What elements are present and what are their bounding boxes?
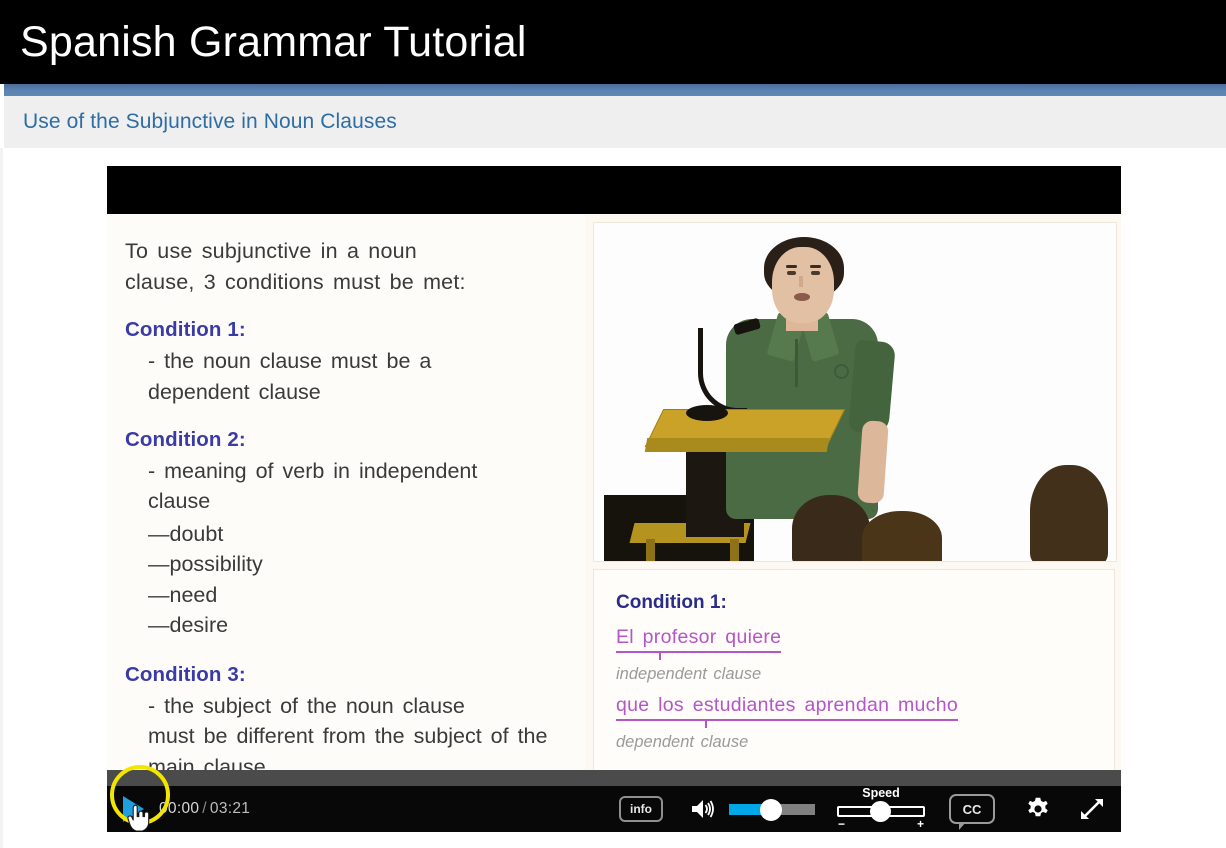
slide-lead-line-2: clause, 3 conditions must be met: [125,267,565,298]
lecturer-nose-shape [799,276,803,287]
independent-clause-label: independent clause [616,665,1114,684]
speed-control: Speed − + [835,786,927,832]
volume-slider[interactable] [729,802,815,816]
list-item: —doubt [148,519,565,550]
example-heading: Condition 1: [616,592,1114,614]
condition-2-line-2: clause [148,489,210,513]
lecturer-photo [593,222,1117,562]
condition-3-heading: Condition 3: [125,663,565,687]
speed-increase-label[interactable]: + [917,817,924,831]
play-button[interactable] [107,786,153,832]
bench-leg-shape [646,539,655,561]
condition-1-heading: Condition 1: [125,318,565,342]
microphone-base-shape [686,405,728,421]
podium-edge-shape [645,438,829,452]
lecturer-brow-shape [810,265,821,268]
lecturer-eye-shape [787,271,796,275]
lecturer-mouth-shape [794,293,810,301]
speed-decrease-label[interactable]: − [838,817,845,831]
gear-icon [1025,796,1051,822]
slide-content: To use subjunctive in a noun clause, 3 c… [107,214,1121,770]
condition-2-line-1: - meaning of verb in independent [148,456,565,487]
video-player[interactable]: To use subjunctive in a noun clause, 3 c… [107,166,1121,832]
dependent-clause-label: dependent clause [616,733,1114,752]
slide-right-column: Condition 1: El profesor quiere independ… [585,214,1121,770]
current-time: 00:00 [159,800,199,817]
speed-slider[interactable] [837,804,925,818]
student-head-shape [862,511,942,562]
list-item: —possibility [148,549,565,580]
slide-lead-line-1: To use subjunctive in a noun [125,236,565,267]
speed-label: Speed [835,786,927,800]
fullscreen-button[interactable] [1075,792,1109,826]
expand-arrows-icon [1079,796,1105,822]
shirt-logo-icon [834,364,849,379]
condition-3-body: - the subject of the noun clause must be… [125,691,565,770]
accent-divider [4,84,1226,96]
condition-1-line-2: dependent clause [148,380,321,404]
play-icon [123,796,144,822]
settings-button[interactable] [1021,792,1055,826]
info-button[interactable]: info [619,796,663,822]
lecturer-placket-shape [795,339,798,387]
app-header: Spanish Grammar Tutorial [0,0,1226,84]
player-control-bar: 00:00/03:21 info Speed [107,786,1121,832]
student-head-shape [1030,465,1108,562]
video-stage[interactable]: To use subjunctive in a noun clause, 3 c… [107,166,1121,770]
condition-2-item-list: —doubt —possibility —need —desire [125,519,565,641]
speed-slider-knob[interactable] [870,801,891,822]
volume-slider-knob[interactable] [760,799,782,821]
condition-1-line-1: - the noun clause must be a [148,346,565,377]
lecturer-face-shape [780,257,826,297]
player-controls-right: info Speed − [619,786,1121,832]
player-controls-left: 00:00/03:21 [107,786,250,832]
condition-1-body: - the noun clause must be a dependent cl… [125,346,565,407]
bench-leg-shape [730,539,739,561]
example-panel: Condition 1: El profesor quiere independ… [593,569,1115,770]
total-time: 03:21 [210,800,250,817]
condition-2-heading: Condition 2: [125,428,565,452]
closed-captions-button[interactable]: CC [949,794,995,824]
list-item: —desire [148,610,565,641]
lecturer-eye-shape [811,271,820,275]
lecturer-brow-shape [786,265,797,268]
condition-3-line-1: - the subject of the noun clause [148,691,565,722]
time-display: 00:00/03:21 [159,800,250,818]
student-head-shape [792,495,870,562]
slide-left-column: To use subjunctive in a noun clause, 3 c… [107,214,585,770]
dependent-clause-text: que los estudiantes aprendan mucho [616,694,958,721]
condition-2-body: - meaning of verb in independent clause [125,456,565,517]
lesson-subtitle: Use of the Subjunctive in Noun Clauses [4,110,397,134]
volume-button[interactable] [687,794,719,824]
page-title: Spanish Grammar Tutorial [0,21,527,64]
time-separator: / [199,800,210,817]
speaker-icon [690,798,716,820]
independent-clause-text: El profesor quiere [616,626,781,653]
slide-lead-text: To use subjunctive in a noun clause, 3 c… [125,236,565,297]
condition-3-line-2: must be different from the [148,724,405,748]
list-item: —need [148,580,565,611]
lesson-subtitle-bar: Use of the Subjunctive in Noun Clauses [4,96,1226,149]
seek-bar[interactable] [107,770,1121,786]
